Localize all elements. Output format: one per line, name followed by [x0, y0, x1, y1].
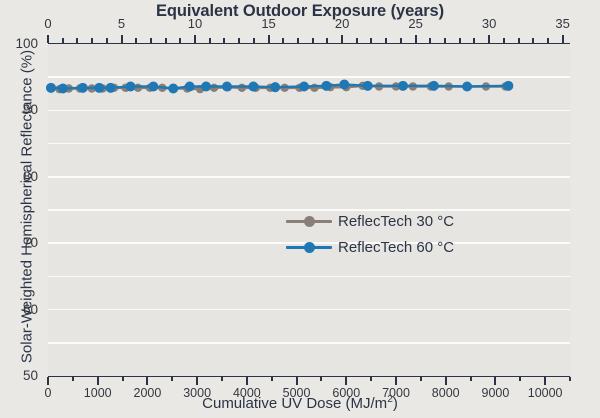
- top-axis-minor-tick: [282, 38, 284, 43]
- top-axis-minor-tick: [312, 38, 314, 43]
- top-axis-minor-tick: [62, 38, 64, 43]
- chart-root: Equivalent Outdoor Exposure (years) Sola…: [0, 0, 600, 418]
- data-point: [310, 84, 318, 92]
- top-axis-major-tick: [341, 35, 343, 43]
- data-point: [78, 83, 88, 93]
- top-axis-minor-tick: [459, 38, 461, 43]
- top-axis-minor-tick: [150, 38, 152, 43]
- bottom-axis-major-tick: [345, 377, 347, 385]
- bottom-axis-major-tick: [246, 377, 248, 385]
- data-point: [248, 82, 258, 92]
- bottom-tick-label: 2000: [122, 386, 172, 400]
- data-point: [363, 81, 373, 91]
- bottom-axis-minor-tick: [171, 377, 173, 381]
- data-point: [339, 80, 349, 90]
- bottom-tick-label: 8000: [421, 386, 471, 400]
- top-axis-minor-tick: [385, 38, 387, 43]
- top-axis-minor-tick: [106, 38, 108, 43]
- y-axis-title: Solar-Weighted Hemispherical Reflectance…: [19, 27, 36, 387]
- data-point: [321, 81, 331, 91]
- top-axis-minor-tick: [429, 38, 431, 43]
- bottom-axis-major-tick: [296, 377, 298, 385]
- bottom-tick-label: 3000: [172, 386, 222, 400]
- top-axis-major-tick: [121, 35, 123, 43]
- top-axis-minor-tick: [91, 38, 93, 43]
- top-axis-minor-tick: [532, 38, 534, 43]
- bottom-axis-minor-tick: [420, 377, 422, 381]
- data-point: [185, 82, 195, 92]
- bottom-tick-label: 7000: [371, 386, 421, 400]
- top-axis-major-tick: [415, 35, 417, 43]
- bottom-tick-label: 4000: [222, 386, 272, 400]
- legend-swatch-icon: [286, 214, 332, 228]
- bottom-axis-minor-tick: [72, 377, 74, 381]
- top-axis-minor-tick: [135, 38, 137, 43]
- top-axis-minor-tick: [253, 38, 255, 43]
- top-axis-minor-tick: [238, 38, 240, 43]
- top-axis-major-tick: [194, 35, 196, 43]
- y-tick-label: 50: [4, 368, 38, 383]
- data-point: [210, 84, 218, 92]
- data-point: [201, 82, 211, 92]
- bottom-axis-minor-tick: [221, 377, 223, 381]
- top-axis-major-tick: [562, 35, 564, 43]
- top-tick-label: 30: [469, 16, 509, 31]
- top-axis-minor-tick: [326, 38, 328, 43]
- data-point: [238, 84, 246, 92]
- bottom-axis-minor-tick: [569, 377, 571, 381]
- bottom-axis-minor-tick: [122, 377, 124, 381]
- top-axis-minor-tick: [547, 38, 549, 43]
- y-tick-label: 80: [4, 169, 38, 184]
- data-point: [148, 82, 158, 92]
- top-axis-minor-tick: [209, 38, 211, 43]
- bottom-axis-major-tick: [97, 377, 99, 385]
- legend-marker-dot: [304, 242, 315, 253]
- top-axis-major-tick: [488, 35, 490, 43]
- data-point: [46, 83, 56, 93]
- top-axis-minor-tick: [518, 38, 520, 43]
- bottom-axis-major-tick: [445, 377, 447, 385]
- top-axis-minor-tick: [356, 38, 358, 43]
- y-tick-label: 60: [4, 302, 38, 317]
- data-point: [299, 82, 309, 92]
- top-tick-label: 15: [249, 16, 289, 31]
- legend-marker-dot: [304, 216, 315, 227]
- top-axis-minor-tick: [503, 38, 505, 43]
- bottom-axis-major-tick: [196, 377, 198, 385]
- top-axis-minor-tick: [297, 38, 299, 43]
- top-axis-minor-tick: [179, 38, 181, 43]
- data-point: [222, 82, 232, 92]
- y-tick-label: 100: [4, 36, 38, 51]
- data-point: [429, 81, 439, 91]
- data-point: [398, 81, 408, 91]
- data-point: [168, 83, 178, 93]
- top-axis-minor-tick: [76, 38, 78, 43]
- top-axis-minor-tick: [444, 38, 446, 43]
- top-tick-label: 25: [396, 16, 436, 31]
- bottom-axis-major-tick: [494, 377, 496, 385]
- top-axis-minor-tick: [473, 38, 475, 43]
- top-axis-minor-tick: [223, 38, 225, 43]
- bottom-tick-label: 1000: [73, 386, 123, 400]
- bottom-axis-major-tick: [47, 377, 49, 385]
- bottom-axis-minor-tick: [470, 377, 472, 381]
- legend-item-30c[interactable]: ReflecTech 30 °C: [286, 208, 454, 234]
- bottom-axis-minor-tick: [370, 377, 372, 381]
- top-tick-label: 0: [28, 16, 68, 31]
- bottom-axis-minor-tick: [320, 377, 322, 381]
- legend-label: ReflecTech 60 °C: [338, 239, 454, 256]
- data-point: [126, 82, 136, 92]
- bottom-axis-major-tick: [395, 377, 397, 385]
- data-point: [106, 83, 116, 93]
- bottom-axis-minor-tick: [271, 377, 273, 381]
- top-axis-major-tick: [268, 35, 270, 43]
- bottom-axis-minor-tick: [519, 377, 521, 381]
- legend-swatch-icon: [286, 240, 332, 254]
- data-point: [462, 82, 472, 92]
- bottom-axis-major-tick: [146, 377, 148, 385]
- data-point: [58, 83, 68, 93]
- top-axis-major-tick: [47, 35, 49, 43]
- top-tick-label: 5: [102, 16, 142, 31]
- legend-item-60c[interactable]: ReflecTech 60 °C: [286, 234, 454, 260]
- data-point: [503, 81, 513, 91]
- y-tick-label: 90: [4, 102, 38, 117]
- y-tick-label: 70: [4, 235, 38, 250]
- legend-label: ReflecTech 30 °C: [338, 213, 454, 230]
- legend: ReflecTech 30 °CReflecTech 60 °C: [286, 208, 454, 260]
- top-tick-label: 10: [175, 16, 215, 31]
- bottom-tick-label: 5000: [272, 386, 322, 400]
- bottom-tick-label: 6000: [321, 386, 371, 400]
- bottom-tick-label: 10000: [520, 386, 570, 400]
- bottom-tick-label: 9000: [470, 386, 520, 400]
- bottom-axis-major-tick: [544, 377, 546, 385]
- top-tick-label: 35: [543, 16, 583, 31]
- data-point: [94, 83, 104, 93]
- bottom-tick-label: 0: [23, 386, 73, 400]
- data-point: [270, 82, 280, 92]
- top-tick-label: 20: [322, 16, 362, 31]
- top-axis-title: Equivalent Outdoor Exposure (years): [0, 2, 600, 21]
- top-axis-minor-tick: [370, 38, 372, 43]
- top-axis-minor-tick: [400, 38, 402, 43]
- top-axis-minor-tick: [165, 38, 167, 43]
